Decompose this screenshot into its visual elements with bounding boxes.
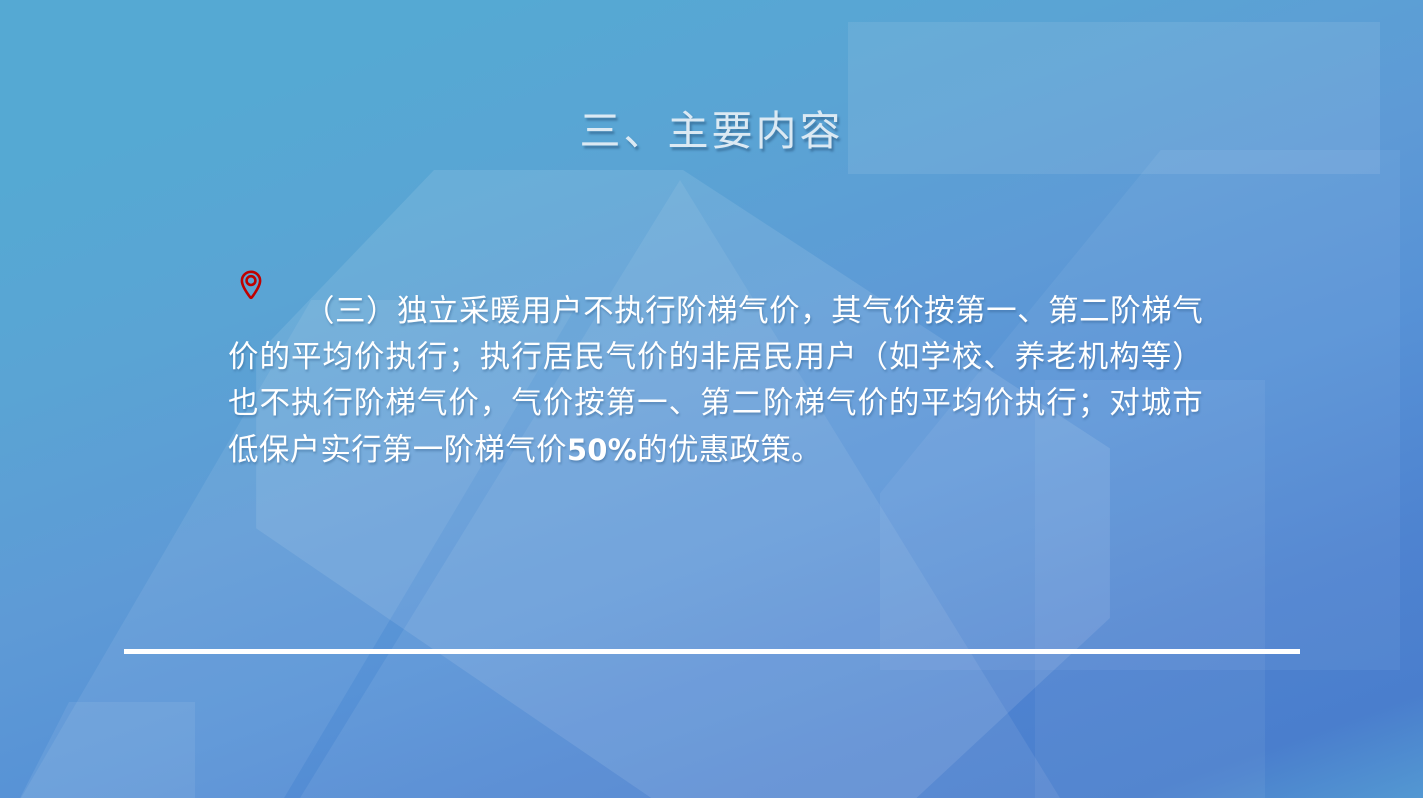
presentation-slide: 三、主要内容 （三）独立采暖用户不执行阶梯气价，其气价按第一、第二阶梯气价的平均… — [0, 0, 1423, 798]
body-content-block: （三）独立采暖用户不执行阶梯气价，其气价按第一、第二阶梯气价的平均价执行；执行居… — [228, 258, 1203, 504]
divider-rule — [124, 649, 1300, 654]
map-pin-icon — [239, 270, 263, 300]
slide-title: 三、主要内容 — [0, 97, 1423, 157]
decorative-parallelogram-bottom-left — [20, 702, 195, 798]
body-paragraph: （三）独立采暖用户不执行阶梯气价，其气价按第一、第二阶梯气价的平均价执行；执行居… — [228, 289, 1203, 474]
body-paragraph-percentage: 50% — [567, 433, 637, 467]
body-paragraph-tail: 的优惠政策。 — [637, 433, 822, 468]
